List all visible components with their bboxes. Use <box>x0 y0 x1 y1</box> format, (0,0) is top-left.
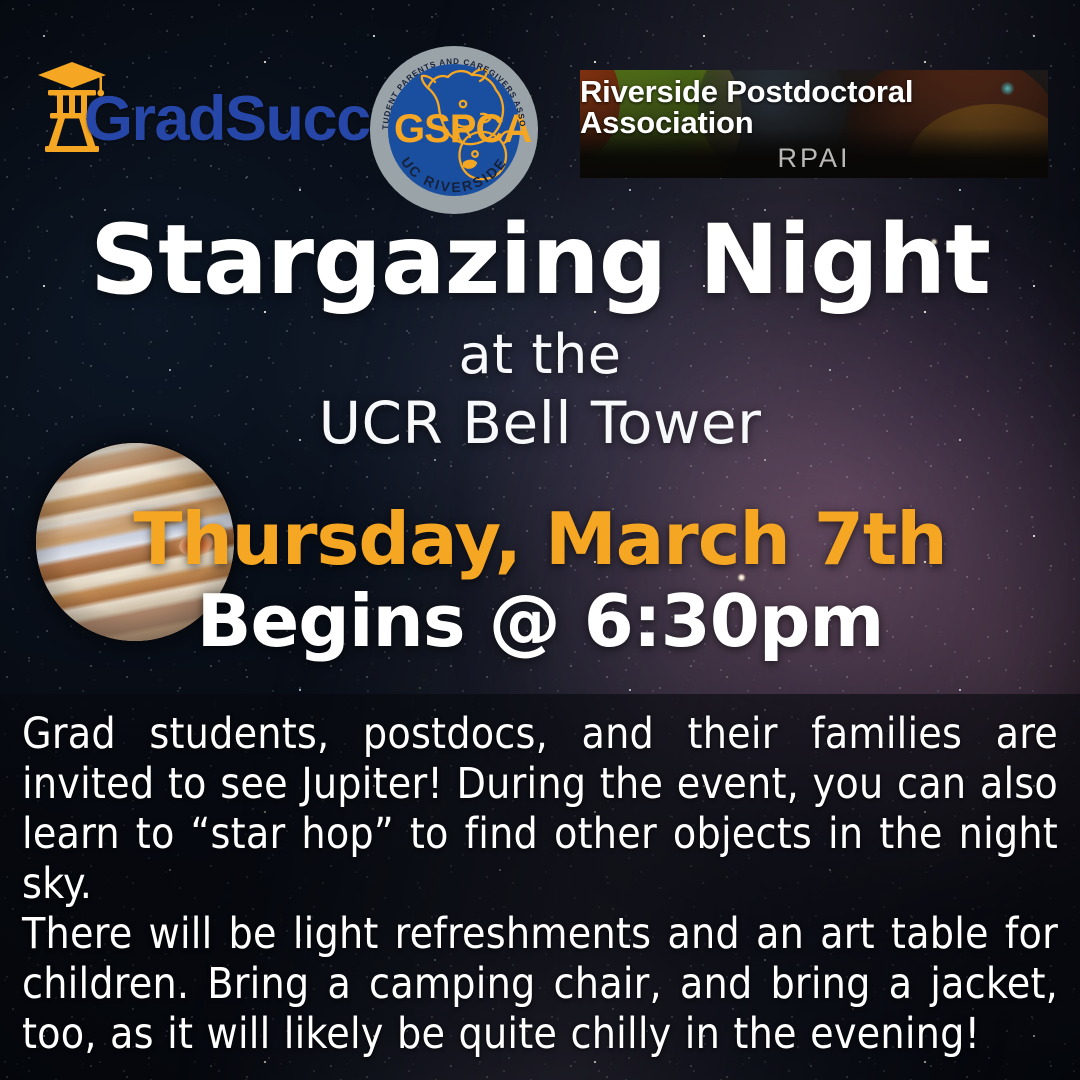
event-date: Thursday, March 7th <box>0 503 1080 575</box>
body-paragraph-1: Grad students, postdocs, and their famil… <box>22 710 1058 910</box>
rpa-title: Riverside Postdoctoral Association <box>580 76 1048 138</box>
event-poster: GradSuccess <box>0 0 1080 1080</box>
body-paragraph-2: There will be light refreshments and an … <box>22 910 1058 1060</box>
rpa-subtitle: RPAI <box>777 145 850 172</box>
event-datetime-block: Thursday, March 7th Begins @ 6:30pm <box>0 503 1080 657</box>
event-time: Begins @ 6:30pm <box>0 585 1080 657</box>
rpa-banner: Riverside Postdoctoral Association RPAI <box>580 70 1048 178</box>
gspca-logo: GSPCA GRAD STUDENT PARENTS AND CAREGIVER… <box>368 44 540 216</box>
body-text-panel: Grad students, postdocs, and their famil… <box>0 694 1080 1080</box>
logo-row: GradSuccess <box>0 0 1080 200</box>
headline-block: Stargazing Night at the UCR Bell Tower <box>0 212 1080 456</box>
poster-title: Stargazing Night <box>0 212 1080 310</box>
headline-line-2: at the <box>0 324 1080 386</box>
gspca-acronym: GSPCA <box>394 107 531 151</box>
